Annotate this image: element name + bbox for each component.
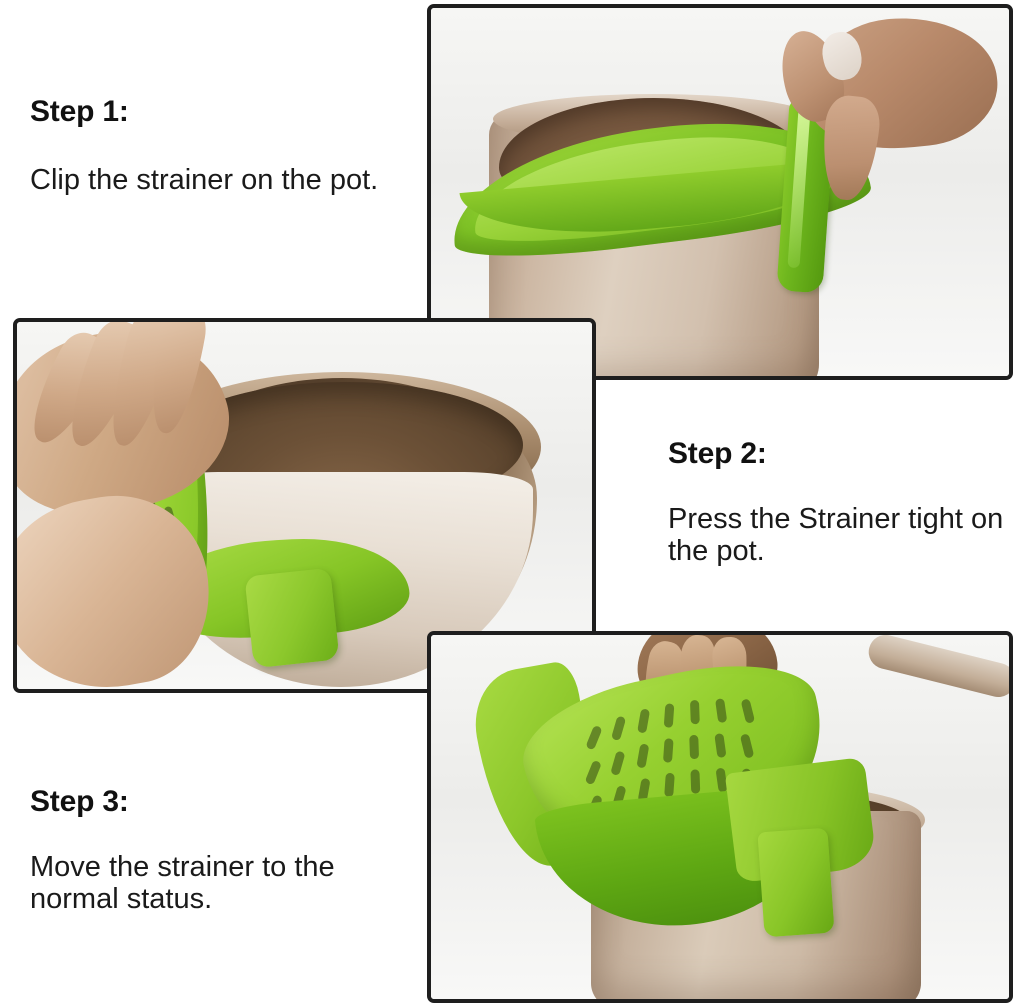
step-1-heading: Step 1: (30, 96, 430, 128)
strainer-hole (636, 743, 649, 768)
step-2-text-block: Step 2: Press the Strainer tight on the … (668, 438, 1024, 567)
photo-3-stage (431, 635, 1009, 999)
strainer-hole (585, 725, 602, 751)
strainer-hole (664, 773, 675, 798)
strainer-hole (740, 733, 755, 758)
photo-strainer-normal-status (427, 631, 1013, 1003)
strainer-clip-tab (757, 828, 834, 938)
strainer-hole (741, 698, 756, 723)
step-1-text-block: Step 1: Clip the strainer on the pot. (30, 96, 430, 196)
strainer-hole (611, 716, 626, 742)
strainer-hole (715, 698, 727, 723)
strainer-hole (690, 700, 700, 724)
strainer-hole (585, 760, 602, 786)
instruction-graphic: Step 1: Clip the strainer on the pot. St… (0, 0, 1024, 1007)
step-3-body: Move the strainer to the normal status. (30, 851, 430, 916)
strainer-hole (663, 738, 674, 763)
step-2-body: Press the Strainer tight on the pot. (668, 503, 1024, 568)
strainer-hole (689, 735, 699, 759)
strainer-hole (714, 733, 726, 758)
strainer-hole (690, 769, 700, 793)
step-3-heading: Step 3: (30, 786, 430, 818)
step-2-heading: Step 2: (668, 438, 1024, 470)
step-3-text-block: Step 3: Move the strainer to the normal … (30, 786, 430, 915)
strainer-hole (637, 708, 650, 733)
strainer-hole (664, 703, 675, 728)
step-1-body: Clip the strainer on the pot. (30, 164, 430, 196)
strainer-hole (610, 750, 625, 776)
strainer-clip-tab (244, 568, 339, 668)
